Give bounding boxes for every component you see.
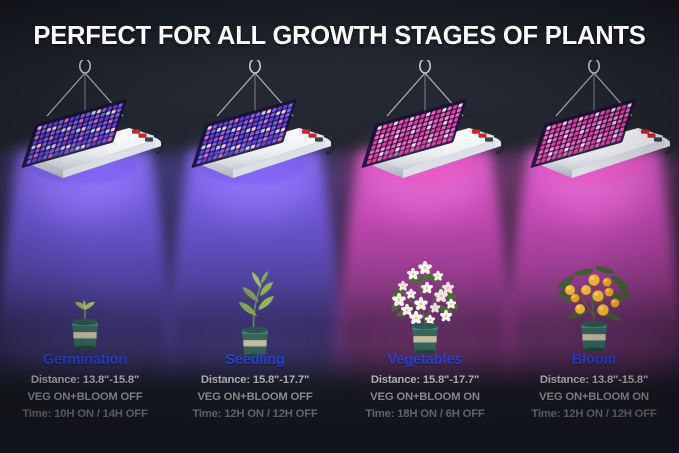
- stage-switches: VEG ON+BLOOM OFF: [0, 389, 170, 406]
- veg-switch: [641, 130, 649, 134]
- stage-distance: Distance: 15.8"-17.7": [170, 372, 340, 389]
- power-port: [315, 137, 323, 141]
- grow-light-panel-icon: [359, 112, 509, 198]
- plant-seedling: [210, 266, 300, 356]
- stage-title: Germination: [0, 352, 170, 368]
- grow-light-fixture-germination: [19, 112, 151, 184]
- stage-distance: Distance: 15.8"-17.7": [340, 372, 510, 389]
- stage-time: Time: 12H ON / 12H OFF: [170, 406, 340, 423]
- stage-column-vegetables: Vegetables Distance: 15.8"-17.7" VEG ON+…: [340, 0, 510, 453]
- grow-light-fixture-vegetables: [359, 112, 491, 184]
- stage-time: Time: 18H ON / 6H OFF: [340, 406, 510, 423]
- veg-switch: [132, 130, 140, 134]
- stage-distance: Distance: 13.8"-15.8": [509, 372, 679, 389]
- grow-light-fixture-seedling: [189, 112, 321, 184]
- stage-switches: VEG ON+BLOOM OFF: [170, 389, 340, 406]
- grow-light-panel-icon: [19, 112, 169, 198]
- bloom-switch: [309, 134, 317, 138]
- hanger-wire-icon: [365, 60, 485, 118]
- stage-column-seedling: Seedling Distance: 15.8"-17.7" VEG ON+BL…: [170, 0, 340, 453]
- stage-caption: Vegetables Distance: 15.8"-17.7" VEG ON+…: [340, 352, 510, 423]
- grow-light-panel-icon: [528, 112, 678, 198]
- plant-pot: [581, 321, 607, 353]
- grow-light-fixture-bloom: [528, 112, 660, 184]
- stage-distance: Distance: 13.8"-15.8": [0, 372, 170, 389]
- stage-title: Bloom: [509, 352, 679, 368]
- bloom-switch: [648, 134, 656, 138]
- hanger-wire-icon: [534, 60, 654, 118]
- bloom-switch: [139, 134, 147, 138]
- power-port: [485, 137, 493, 141]
- veg-switch: [472, 130, 480, 134]
- power-port: [654, 137, 662, 141]
- plant-sprout: [50, 288, 120, 348]
- stage-caption: Bloom Distance: 13.8"-15.8" VEG ON+BLOOM…: [509, 352, 679, 423]
- power-port: [145, 137, 153, 141]
- stage-caption: Seedling Distance: 15.8"-17.7" VEG ON+BL…: [170, 352, 340, 423]
- stage-caption: Germination Distance: 13.8"-15.8" VEG ON…: [0, 352, 170, 423]
- stage-column-germination: Germination Distance: 13.8"-15.8" VEG ON…: [0, 0, 170, 453]
- stage-column-bloom: Bloom Distance: 13.8"-15.8" VEG ON+BLOOM…: [509, 0, 679, 453]
- stage-title: Seedling: [170, 352, 340, 368]
- plant-fruiting: [538, 250, 650, 350]
- plant-pot: [412, 323, 438, 355]
- bloom-switch: [479, 134, 487, 138]
- infographic-canvas: Germination Distance: 13.8"-15.8" VEG ON…: [0, 0, 679, 453]
- seedling-icon: [210, 266, 300, 356]
- stage-title: Vegetables: [340, 352, 510, 368]
- hanger-wire-icon: [195, 60, 315, 118]
- stage-time: Time: 12H ON / 12H OFF: [509, 406, 679, 423]
- hanger-wire-icon: [25, 60, 145, 118]
- fruiting-plant-icon: [538, 250, 650, 350]
- stage-time: Time: 10H ON / 14H OFF: [0, 406, 170, 423]
- plant-pot: [72, 319, 98, 351]
- grow-light-panel-icon: [189, 112, 339, 198]
- veg-switch: [302, 130, 310, 134]
- stage-switches: VEG ON+BLOOM ON: [340, 389, 510, 406]
- plant-flowering: [370, 256, 480, 352]
- stage-switches: VEG ON+BLOOM ON: [509, 389, 679, 406]
- flowering-plant-icon: [370, 256, 480, 352]
- sprout-icon: [50, 288, 120, 348]
- page-title: PERFECT FOR ALL GROWTH STAGES OF PLANTS: [0, 22, 679, 51]
